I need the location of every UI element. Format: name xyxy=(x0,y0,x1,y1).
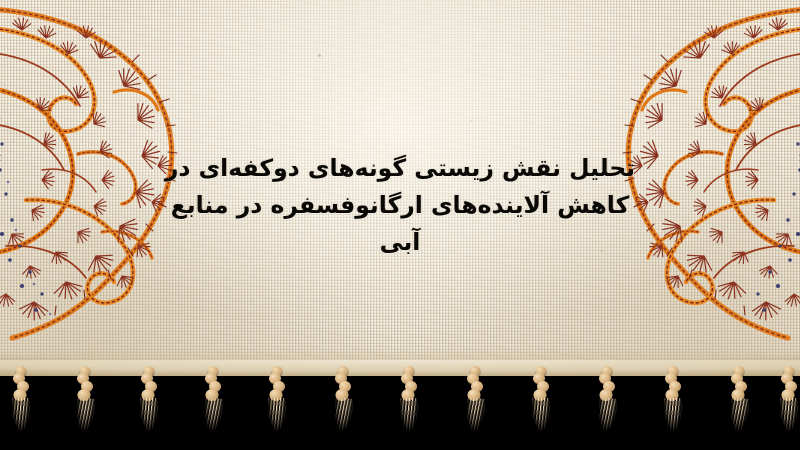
title-line-3: آبی xyxy=(150,224,650,261)
tassel xyxy=(200,366,226,446)
tassel xyxy=(462,366,488,446)
tassel xyxy=(528,366,554,446)
tassel xyxy=(330,366,356,446)
tassel xyxy=(396,366,422,446)
title-line-2: کاهش آلاینده‌های ارگانوفسفره در منابع xyxy=(150,187,650,224)
tassel xyxy=(8,366,34,446)
tassel xyxy=(776,366,800,446)
tassel xyxy=(726,366,752,446)
tassel xyxy=(136,366,162,446)
fabric-speck xyxy=(470,120,472,122)
fabric-speck xyxy=(318,54,321,57)
slide-canvas: تحلیل نقش زیستی گونه‌های دوکفه‌ای در کاه… xyxy=(0,0,800,450)
tassel xyxy=(264,366,290,446)
tassel-fringe xyxy=(0,360,800,450)
tassel xyxy=(72,366,98,446)
tassel xyxy=(594,366,620,446)
tassel xyxy=(660,366,686,446)
slide-title: تحلیل نقش زیستی گونه‌های دوکفه‌ای در کاه… xyxy=(150,150,650,261)
title-line-1: تحلیل نقش زیستی گونه‌های دوکفه‌ای در xyxy=(150,150,650,187)
